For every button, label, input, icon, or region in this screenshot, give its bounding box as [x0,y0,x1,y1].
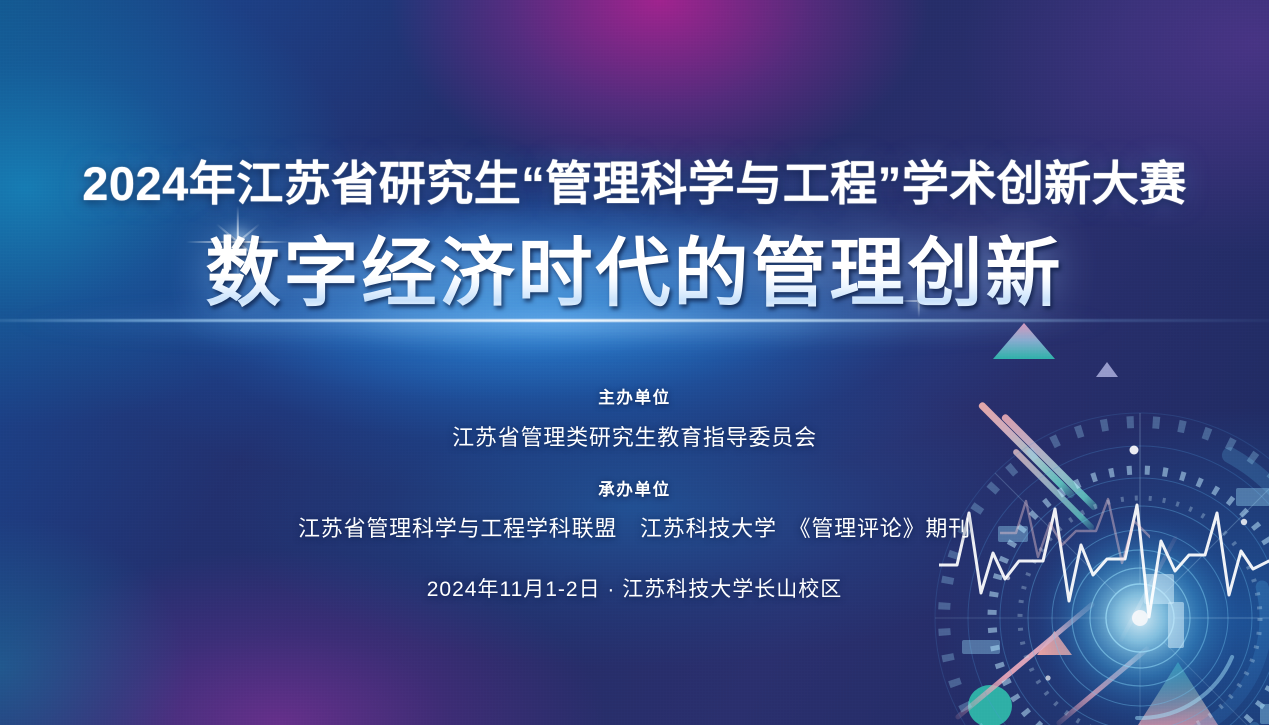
main-title: 2024年江苏省研究生“管理科学与工程”学术创新大赛 [0,159,1269,210]
organizer-label: 主办单位 [0,390,1269,407]
sub-title: 数字经济时代的管理创新 [0,234,1269,315]
host-names: 江苏省管理科学与工程学科联盟 江苏科技大学 《管理评论》期刊 [0,518,1269,540]
host-label: 承办单位 [0,482,1269,499]
organizer-name: 江苏省管理类研究生教育指导委员会 [0,427,1269,449]
info-block: 主办单位 江苏省管理类研究生教育指导委员会 承办单位 江苏省管理科学与工程学科联… [0,390,1269,600]
date-venue: 2024年11月1-2日 · 江苏科技大学长山校区 [0,579,1269,600]
conference-poster: 2024年江苏省研究生“管理科学与工程”学术创新大赛 数字经济时代的管理创新 主… [0,0,1269,725]
